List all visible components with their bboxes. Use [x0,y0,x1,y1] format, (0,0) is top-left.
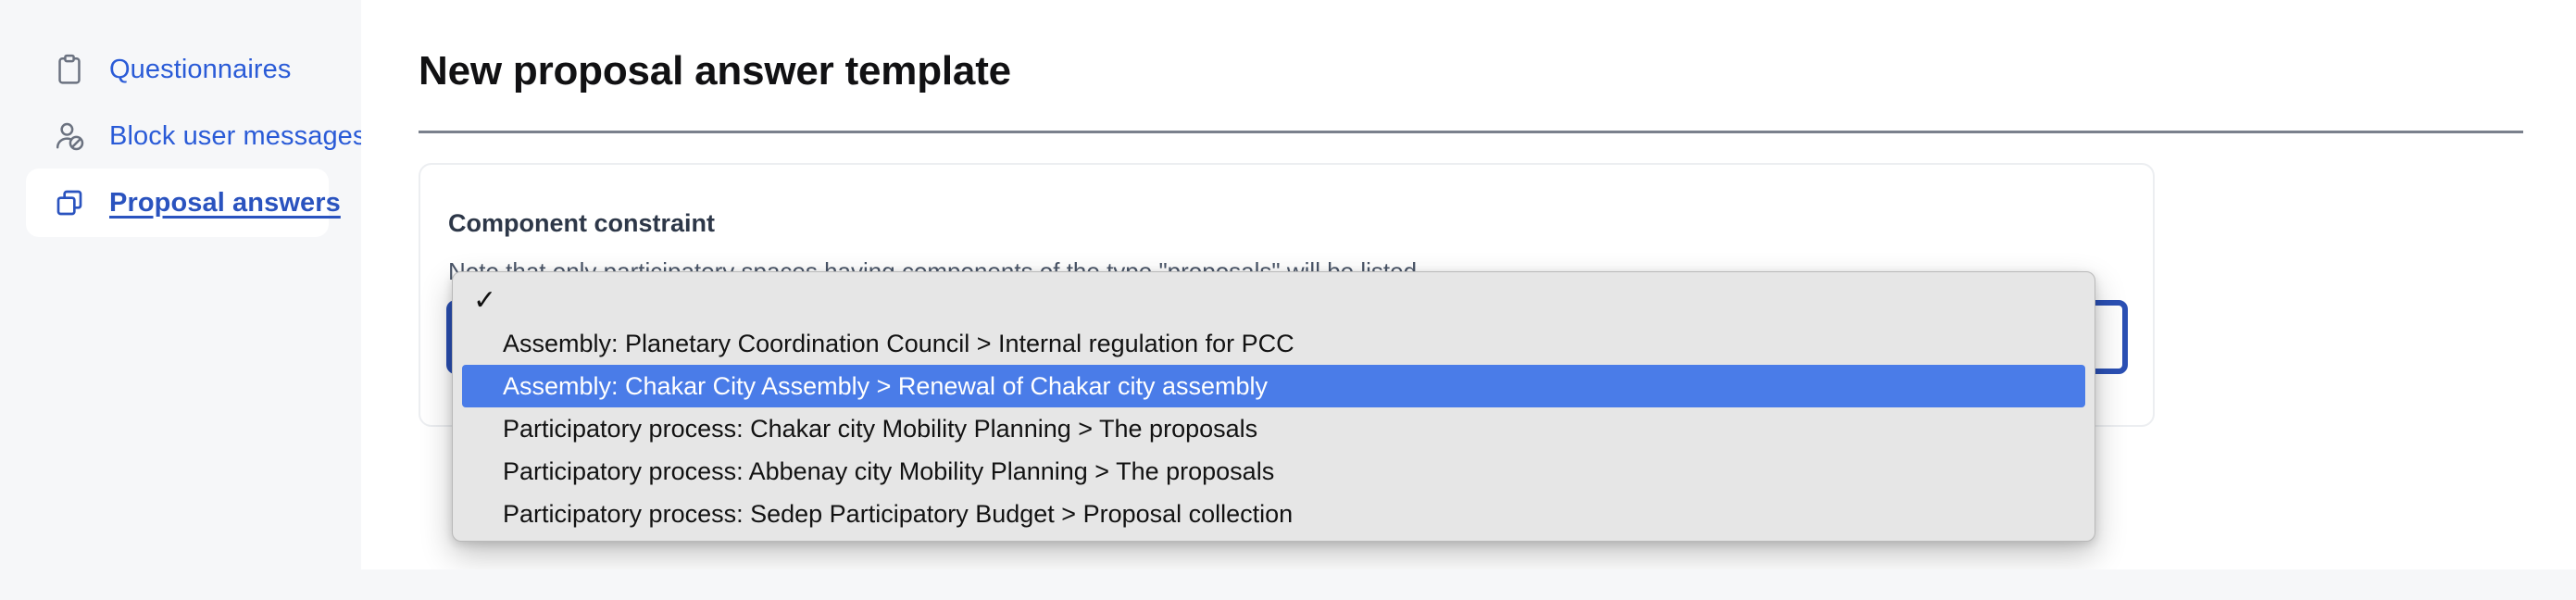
select-option-label: Participatory process: Abbenay city Mobi… [503,457,1274,486]
select-option[interactable]: Participatory process: Sedep Participato… [453,493,2095,535]
select-option-label: Assembly: Chakar City Assembly > Renewal… [503,372,1268,401]
select-option-label: Assembly: Planetary Coordination Council… [503,330,1294,358]
panel-heading: Component constraint [448,209,715,238]
app-root: Questionnaires Block user messages P [0,0,2576,600]
select-option[interactable]: Participatory process: Chakar city Mobil… [453,407,2095,450]
select-option-label: Participatory process: Sedep Participato… [503,500,1293,529]
sidebar: Questionnaires Block user messages P [0,0,361,569]
sidebar-item-label: Block user messages [109,123,367,150]
sidebar-item-label: Proposal answers [109,190,341,217]
sidebar-item-label: Questionnaires [109,56,291,83]
select-options-popup[interactable]: ✓ Assembly: Planetary Coordination Counc… [452,271,2095,542]
page-title: New proposal answer template [419,48,1011,94]
clipboard-icon [52,52,87,87]
checkmark-icon: ✓ [473,287,496,315]
select-option-highlighted[interactable]: Assembly: Chakar City Assembly > Renewal… [462,365,2085,407]
sidebar-item-proposal-answers[interactable]: Proposal answers [26,169,329,237]
select-option-label: Participatory process: Chakar city Mobil… [503,415,1257,444]
copy-icon [52,185,87,220]
user-blocked-icon [52,119,87,154]
select-option[interactable]: ✓ [453,280,2095,322]
title-divider [419,131,2523,133]
select-option[interactable]: Assembly: Planetary Coordination Council… [453,322,2095,365]
page-footer-strip [0,569,2576,600]
select-option[interactable]: Participatory process: Abbenay city Mobi… [453,450,2095,493]
sidebar-item-block-user-messages[interactable]: Block user messages [26,102,329,170]
sidebar-item-questionnaires[interactable]: Questionnaires [26,35,329,104]
